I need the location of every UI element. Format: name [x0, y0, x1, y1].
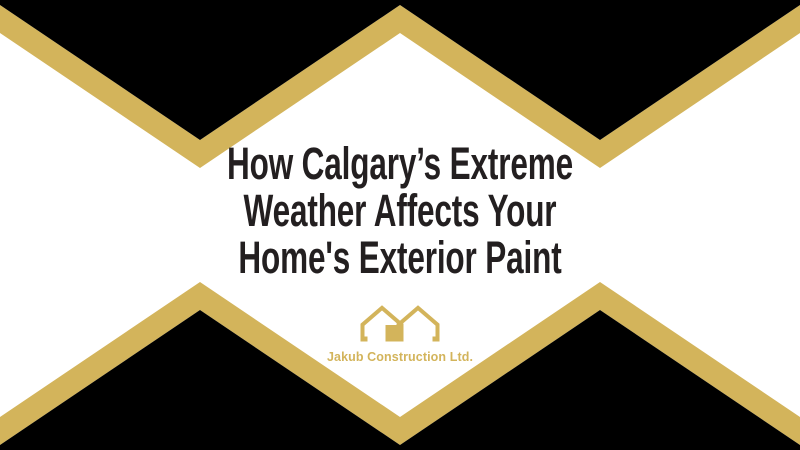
title-line-2: Weather Affects Your: [120, 187, 680, 234]
poster-content: How Calgary’s Extreme Weather Affects Yo…: [0, 0, 800, 450]
brand-lockup: Jakub Construction Ltd.: [0, 303, 800, 364]
title-line-3: Home's Exterior Paint: [120, 234, 680, 281]
title-line-1: How Calgary’s Extreme: [120, 140, 680, 187]
poster-canvas: How Calgary’s Extreme Weather Affects Yo…: [0, 0, 800, 450]
page-title: How Calgary’s Extreme Weather Affects Yo…: [0, 140, 800, 281]
brand-name: Jakub Construction Ltd.: [327, 350, 473, 364]
double-house-logo-icon: [358, 303, 442, 345]
